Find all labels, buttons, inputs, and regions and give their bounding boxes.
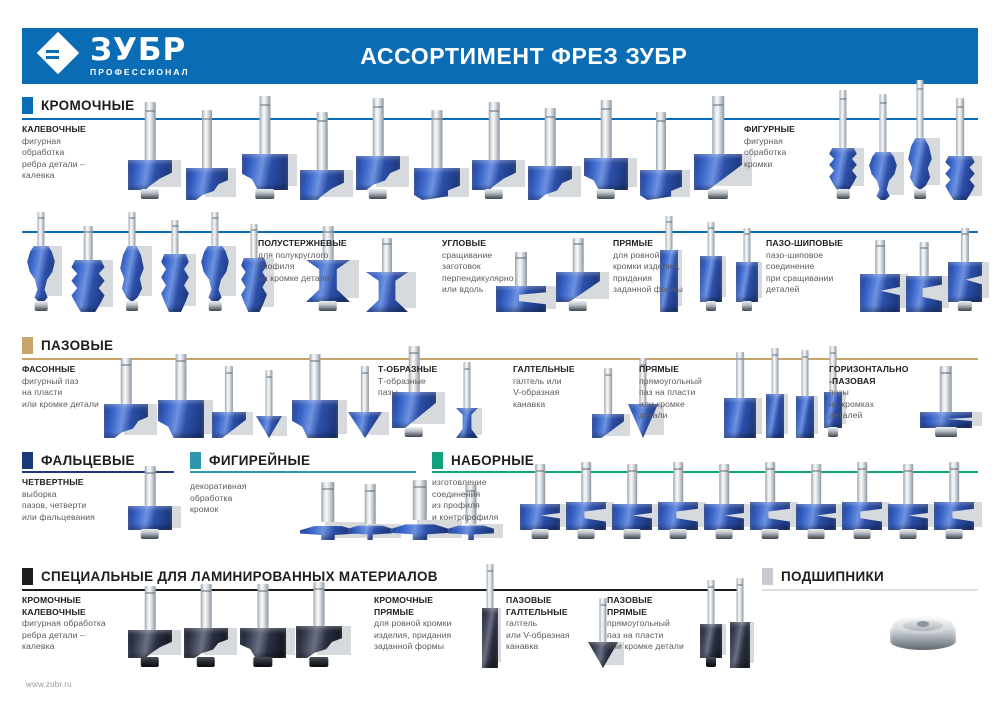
bit-bearing [900,529,917,539]
label-galtelnye: ГАЛТЕЛЬНЫЕ галтель или V-образная канавк… [513,364,599,410]
bit-shank [309,354,320,400]
bit-bearing [255,189,274,199]
label-t-obraznye: Т-ОБРАЗНЫЕ Т-образные пазы [378,364,454,399]
bit-cutter-head [724,398,756,438]
router-bit [766,348,784,438]
bit-bearing [569,301,587,311]
bit-bearing [706,657,716,667]
bit-bearing [319,301,337,311]
bit-shank [225,366,233,412]
bit-shank [961,228,969,262]
bit-bearing [742,301,752,311]
router-bit [906,242,942,312]
router-bit [184,584,228,668]
router-bit [906,80,934,200]
bit-bearing [914,189,926,199]
label-pazo-shipovye: ПАЗО-ШИПОВЫЕ пазо-шиповое соединение при… [766,238,860,296]
router-bit [200,212,230,312]
label-nabornye-desc: изготовление соединения из профиля и кон… [432,477,524,523]
footer-url: www.zubr.ru [26,680,72,689]
label-pazovye-pryamye: ПАЗОВЫЕ ПРЯМЫЕ прямоугольный паз на плас… [607,595,711,653]
section-chip-icon [22,452,33,469]
section-header-kromochnye: КРОМОЧНЫЕ [22,96,134,114]
label-pazovye-galtelnye: ПАЗОВЫЕ ГАЛТЕЛЬНЫЕ галтель или V-образна… [506,595,602,653]
label-chetvertnye: ЧЕТВЕРТНЫЕ выборка пазов, четверти или ф… [22,477,122,523]
router-bit [160,220,190,312]
router-bit [934,462,974,540]
brand-subtitle: ПРОФЕССИОНАЛ [90,68,190,77]
router-bit [366,238,408,312]
label-kromochnye-kalevochnye: КРОМОЧНЫЕ КАЛЕВОЧНЫЕ фигурная обработка … [22,595,130,653]
router-bit [242,96,288,200]
section-header-figireynye: ФИГИРЕЙНЫЕ [190,451,310,469]
router-bit [828,90,858,200]
section-header-podshipniki: ПОДШИПНИКИ [762,567,884,585]
router-bit [70,226,106,312]
router-bit [414,110,460,200]
bit-bearing [762,529,779,539]
bit-cutter-head [158,400,204,438]
bit-shank [361,366,369,412]
bit-shank [719,464,729,504]
router-bit [128,466,172,540]
bit-cutter-head [242,154,288,190]
bit-bearing [209,301,222,311]
bit-shank [956,98,964,156]
section-rule [190,471,416,473]
bit-shank [903,464,913,504]
router-bit [26,212,56,312]
router-bit [212,366,246,438]
bit-bearing [808,529,825,539]
router-bit [348,484,392,540]
router-bit [796,464,836,540]
router-bit [472,102,516,200]
bit-shank [940,366,952,412]
bit-shank [581,462,591,502]
bit-shank [737,578,744,622]
bit-bearing [369,189,387,199]
bit-bearing [716,529,733,539]
bit-shank [145,466,156,506]
bit-bearing [946,529,963,539]
bit-shank [656,112,666,170]
bit-shank [37,212,44,246]
bit-cutter-head [128,506,172,530]
bit-bearing [126,301,138,311]
section-chip-icon [22,337,33,354]
bit-shank [545,108,556,166]
router-bit [750,462,790,540]
router-bit [158,354,204,438]
bit-bearing [141,529,159,539]
bit-shank [765,462,775,502]
bit-shank [535,464,545,504]
label-figurnye: ФИГУРНЫЕ фигурная обработка кромки [744,124,824,170]
bit-bearing [141,657,159,667]
router-bit [860,240,900,312]
bit-shank [736,352,744,398]
router-bit [948,228,982,312]
bit-shank [84,226,93,260]
bit-shank [129,212,136,246]
bit-shank [708,222,715,256]
bit-bearing [35,301,48,311]
router-bit [556,238,600,312]
router-bit [256,370,282,438]
label-pryamye-pazovye: ПРЯМЫЕ прямоугольный паз на пласти или к… [639,364,727,422]
bit-shank [487,564,494,608]
bit-cutter-head [584,158,628,190]
label-figireynye-desc: декоративная обработка кромок [190,481,282,516]
bit-shank [917,80,924,138]
bit-cutter-head [736,262,758,302]
router-bit [796,350,814,438]
label-kromochnye-pryamye: КРОМОЧНЫЕ ПРЯМЫЕ для ровной кромки издел… [374,595,480,653]
bit-shank [673,462,683,502]
bit-shank [251,224,258,258]
bit-shank [145,102,156,160]
bit-shank [802,350,809,396]
router-bit [736,228,758,312]
bit-shank [373,98,384,156]
bit-cutter-head [766,394,784,438]
router-bit [566,462,606,540]
router-bit [730,578,750,668]
label-pryamye-kromochnye: ПРЯМЫЕ для ровной кромки изделия, придан… [613,238,707,296]
router-bit [456,362,478,438]
bit-shank [257,584,268,628]
bit-shank [949,462,959,502]
bit-bearing [197,657,215,667]
bit-bearing [828,427,838,437]
bit-shank [145,586,156,630]
router-bit [658,462,698,540]
bit-cutter-head [240,628,286,658]
bit-shank [744,228,751,262]
label-fasonnye: ФАСОННЫЕ фигурный паз на пласти или кром… [22,364,124,410]
label-kalevochnye: КАЛЕВОЧНЫЕ фигурная обработка ребра дета… [22,124,118,182]
bit-bearing [578,529,595,539]
bit-shank [920,242,929,276]
router-bit [128,102,172,200]
bit-cutter-head [730,622,750,668]
section-title: ПАЗОВЫЕ [41,338,113,353]
section-title: ФИГИРЕЙНЫЕ [209,453,310,468]
bit-bearing [405,427,423,437]
router-bit [300,112,344,200]
router-bit [584,100,628,200]
section-chip-icon [22,568,33,585]
bit-shank [573,238,584,272]
router-bit [296,582,342,668]
bit-bearing [485,189,503,199]
bit-bearing [708,189,728,199]
bit-shank [431,110,442,168]
router-bit [704,464,744,540]
section-chip-icon [22,97,33,114]
router-bit [128,586,172,668]
bit-shank [879,94,886,152]
router-bit [482,564,498,668]
bit-bearing [958,301,972,311]
router-bit [868,94,898,200]
bit-shank [875,240,885,274]
router-bit [842,462,882,540]
bit-cutter-head [482,608,498,668]
bit-bearing [532,529,549,539]
bit-shank [201,584,212,628]
router-bit [724,352,756,438]
bit-bearing [141,189,159,199]
router-bit [528,108,572,200]
bit-bearing [624,529,641,539]
bit-shank [772,348,779,394]
router-bit [348,366,382,438]
bit-shank [175,354,186,400]
router-bit [186,110,228,200]
brand-logo: ЗУБР ПРОФЕССИОНАЛ [40,35,190,77]
router-bit [292,354,338,438]
bit-shank [211,212,218,246]
section-chip-icon [762,568,773,585]
router-bit [888,464,928,540]
bit-shank [382,238,392,272]
bit-shank [171,220,178,254]
brand-name: ЗУБР [90,35,190,66]
bit-shank [259,96,270,154]
zubr-diamond-arrow-icon [40,35,82,77]
bit-shank [627,464,637,504]
bit-bearing [670,529,687,539]
bit-cutter-head [292,400,338,438]
router-bit [520,464,560,540]
bit-shank [321,482,334,522]
poster-header: ЗУБР ПРОФЕССИОНАЛ АССОРТИМЕНТ ФРЕЗ ЗУБР [22,28,978,84]
section-header-nabornye: НАБОРНЫЕ [432,451,534,469]
section-title: КРОМОЧНЫЕ [41,98,134,113]
bearing-illustration [890,612,956,654]
section-header-spetsialnye: СПЕЦИАЛЬНЫЕ ДЛЯ ЛАМИНИРОВАННЫХ МАТЕРИАЛО… [22,567,438,585]
router-bit [240,584,286,668]
bit-bearing [253,657,272,667]
bit-shank [202,110,212,168]
label-polusterzhnevye: ПОЛУСТЕРЖНЕВЫЕ для полукруглого профиля … [258,238,358,284]
bit-cutter-head [796,396,814,438]
bit-shank [365,484,376,524]
section-title: ФАЛЬЦЕВЫЕ [41,453,135,468]
poster-root: ЗУБР ПРОФЕССИОНАЛ АССОРТИМЕНТ ФРЕЗ ЗУБР … [0,0,1000,707]
bit-shank [313,582,324,626]
bit-bearing [706,301,716,311]
router-bit [694,96,742,200]
section-title: СПЕЦИАЛЬНЫЕ ДЛЯ ЛАМИНИРОВАННЫХ МАТЕРИАЛО… [41,569,438,584]
router-bit [640,112,682,200]
router-bit [356,98,400,200]
bit-shank [811,464,821,504]
section-header-pazovye: ПАЗОВЫЕ [22,336,113,354]
section-rule [762,589,978,591]
bit-shank [464,362,471,408]
router-bit [612,464,652,540]
section-title: ПОДШИПНИКИ [781,569,884,584]
router-bit [118,212,146,312]
section-chip-icon [190,452,201,469]
bit-bearing [309,657,328,667]
bit-shank [712,96,724,154]
bit-bearing [854,529,871,539]
bit-shank [317,112,328,170]
section-header-faltsevye: ФАЛЬЦЕВЫЕ [22,451,135,469]
bit-shank [601,100,612,158]
bit-bearing [935,427,957,437]
router-bit [920,366,972,438]
bit-bearing [837,189,850,199]
bit-shank [857,462,867,502]
router-bit [944,98,976,200]
bit-shank [839,90,846,148]
bit-shank [266,370,273,416]
bit-shank [413,480,427,520]
bit-shank [489,102,500,160]
bit-shank [604,368,612,414]
bit-bearing [597,189,615,199]
label-uglovye: УГЛОВЫЕ сращивание заготовок перпендикул… [442,238,542,296]
section-chip-icon [432,452,443,469]
page-title: АССОРТИМЕНТ ФРЕЗ ЗУБР [190,43,858,70]
label-gorizontalno-pazovaya: ГОРИЗОНТАЛЬНО -ПАЗОВАЯ пазы на кромках д… [829,364,925,422]
